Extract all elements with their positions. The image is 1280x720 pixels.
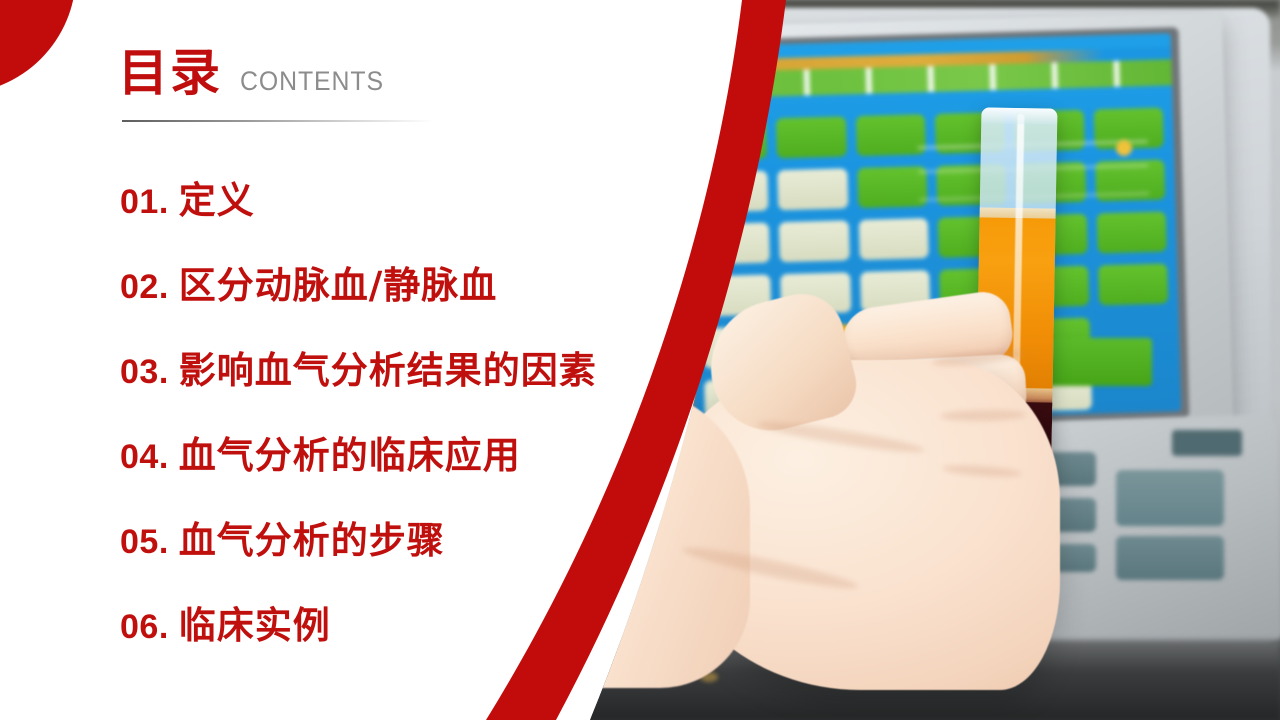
screen-cell [1098, 263, 1168, 305]
contents-item-number: 03. [120, 353, 169, 392]
contents-item-number: 01. [120, 183, 169, 222]
contents-item-label: 影响血气分析结果的因素 [179, 340, 597, 394]
contents-list: 01.定义02.区分动脉血/静脉血03.影响血气分析结果的因素04.血气分析的临… [120, 170, 680, 680]
screen-cell [855, 114, 925, 156]
contents-item-02[interactable]: 02.区分动脉血/静脉血 [120, 255, 680, 340]
screen-cell [858, 218, 928, 260]
contents-item-01[interactable]: 01.定义 [120, 170, 680, 255]
contents-item-number: 04. [120, 438, 169, 477]
screen-cell [698, 171, 768, 213]
keypad-corner-key [1172, 430, 1242, 456]
contents-item-number: 05. [120, 523, 169, 562]
contents-item-04[interactable]: 04.血气分析的临床应用 [120, 425, 680, 510]
contents-item-number: 06. [120, 608, 169, 647]
red-corner-wedge [0, 0, 76, 94]
contents-item-03[interactable]: 03.影响血气分析结果的因素 [120, 340, 680, 425]
contents-item-label: 血气分析的临床应用 [179, 425, 521, 479]
contents-item-label: 定义 [179, 170, 255, 224]
title-divider [122, 120, 434, 122]
page-heading: 目录 CONTENTS [118, 48, 397, 98]
contents-item-number: 02. [120, 268, 169, 307]
screen-cell [697, 119, 767, 161]
keypad-key [1116, 470, 1224, 526]
screen-cell [776, 116, 846, 158]
page-title: 目录 [118, 48, 222, 98]
tube-rim [981, 107, 1057, 124]
contents-item-06[interactable]: 06.临床实例 [120, 595, 680, 680]
screen-green-band [686, 59, 1173, 99]
contents-item-label: 血气分析的步骤 [179, 510, 445, 564]
contents-item-05[interactable]: 05.血气分析的步骤 [120, 510, 680, 595]
keypad-key [1116, 536, 1224, 580]
contents-item-label: 区分动脉血/静脉血 [179, 255, 498, 309]
page-subtitle: CONTENTS [240, 66, 384, 97]
screen-cell [779, 220, 849, 262]
presentation-slide: 目录 CONTENTS 01.定义02.区分动脉血/静脉血03.影响血气分析结果… [0, 0, 1280, 720]
screen-cell [778, 168, 848, 210]
screen-indicator-dot [1116, 140, 1132, 156]
contents-item-label: 临床实例 [179, 595, 331, 649]
screen-cell [700, 223, 770, 265]
screen-cell [857, 166, 927, 208]
